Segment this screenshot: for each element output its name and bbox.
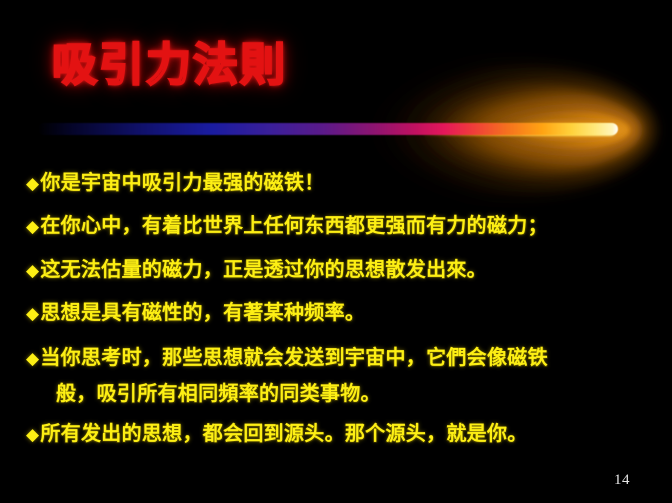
diamond-bullet-icon: ◆: [26, 261, 39, 281]
diamond-bullet-icon: ◆: [26, 304, 39, 324]
bullet-list: ◆你是宇宙中吸引力最强的磁铁！ ◆在你心中，有着比世界上任何东西都更强而有力的磁…: [0, 166, 672, 444]
list-item: ◆这无法估量的磁力，正是透过你的思想散发出來。: [26, 259, 672, 280]
list-item-text: 般，吸引所有相同頻率的同类事物。: [56, 381, 381, 405]
diamond-bullet-icon: ◆: [26, 425, 39, 445]
gradient-light-streak: [38, 123, 618, 135]
list-item-continuation: 般，吸引所有相同頻率的同类事物。: [56, 383, 672, 403]
slide-title: 吸引力法則: [52, 28, 287, 93]
list-item-text: 所有发出的思想，都会回到源头。那个源头，就是你。: [40, 421, 527, 445]
page-number: 14: [614, 472, 630, 489]
list-item-text: 当你思考时，那些思想就会发送到宇宙中，它們会像磁铁: [40, 345, 548, 369]
list-item: ◆所有发出的思想，都会回到源头。那个源头，就是你。: [26, 423, 672, 444]
list-item-text: 思想是具有磁性的，有著某种频率。: [40, 300, 365, 324]
list-item-text: 你是宇宙中吸引力最强的磁铁！: [40, 170, 324, 194]
list-item: ◆你是宇宙中吸引力最强的磁铁！: [26, 172, 672, 193]
diamond-bullet-icon: ◆: [26, 217, 39, 237]
list-item: ◆思想是具有磁性的，有著某种频率。: [26, 302, 672, 323]
list-item: ◆当你思考时，那些思想就会发送到宇宙中，它們会像磁铁: [26, 347, 672, 368]
list-item-text: 这无法估量的磁力，正是透过你的思想散发出來。: [40, 257, 487, 281]
presentation-slide: 吸引力法則 ◆你是宇宙中吸引力最强的磁铁！ ◆在你心中，有着比世界上任何东西都更…: [0, 0, 672, 503]
diamond-bullet-icon: ◆: [26, 349, 39, 369]
list-item: ◆在你心中，有着比世界上任何东西都更强而有力的磁力；: [26, 215, 672, 236]
diamond-bullet-icon: ◆: [26, 174, 39, 194]
list-item-text: 在你心中，有着比世界上任何东西都更强而有力的磁力；: [40, 213, 548, 237]
